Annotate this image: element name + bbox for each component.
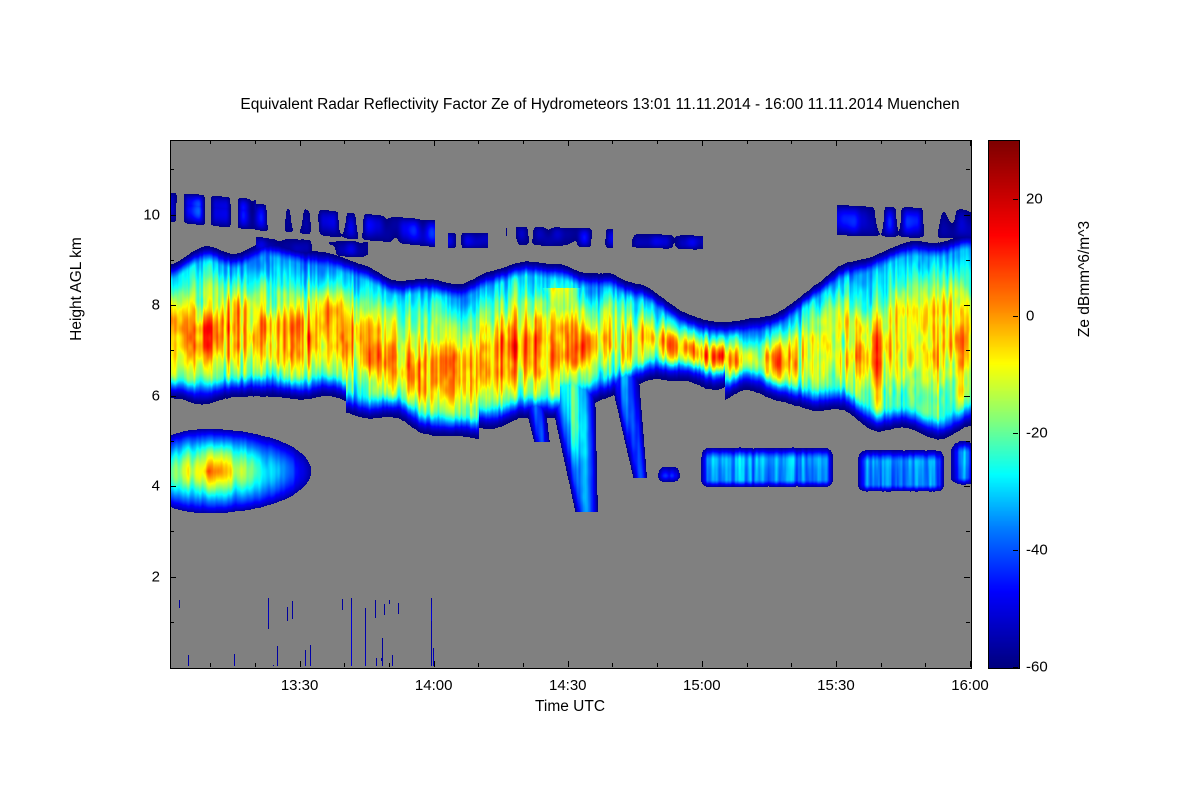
chart-title: Equivalent Radar Reflectivity Factor Ze … [0,96,1200,114]
colorbar-tick [1013,667,1018,668]
y-tick-major [170,305,176,306]
y-tick-major-right [964,486,970,487]
x-tick-minor-top [344,140,345,144]
colorbar-tick-label: -40 [1026,541,1048,558]
x-tick-label: 14:30 [549,677,587,694]
x-tick-minor [255,663,256,667]
x-tick-major-top [568,140,569,146]
x-tick-minor-top [478,140,479,144]
y-tick-minor-right [966,441,970,442]
x-tick-major [970,661,971,667]
y-tick-minor-right [966,531,970,532]
y-tick-label: 10 [122,206,160,223]
x-tick-major-top [702,140,703,146]
x-tick-minor [344,663,345,667]
x-tick-minor-top [925,140,926,144]
x-tick-major [836,661,837,667]
x-tick-label: 15:00 [683,677,721,694]
x-tick-minor [612,663,613,667]
colorbar[interactable] [988,140,1020,669]
colorbar-tick [1013,316,1018,317]
colorbar-tick [1013,199,1018,200]
y-tick-minor [170,350,174,351]
y-axis-title: Height AGL km [68,164,86,414]
colorbar-tick [1013,550,1018,551]
y-tick-minor [170,531,174,532]
y-tick-major [170,215,176,216]
x-axis-title: Time UTC [170,698,970,716]
colorbar-tick-label: -60 [1026,659,1048,676]
y-tick-major-right [964,396,970,397]
y-tick-label: 2 [122,568,160,585]
x-tick-minor [389,663,390,667]
y-tick-major-right [964,215,970,216]
x-tick-minor-top [747,140,748,144]
y-tick-major [170,577,176,578]
colorbar-tick-label: 20 [1026,190,1043,207]
y-tick-label: 4 [122,478,160,495]
x-tick-minor [657,663,658,667]
colorbar-tick-label: 0 [1026,307,1034,324]
colorbar-gradient [989,141,1019,668]
reflectivity-heatmap [171,141,971,668]
y-tick-minor-right [966,169,970,170]
x-tick-minor-top [210,140,211,144]
x-tick-major [300,661,301,667]
y-tick-minor [170,260,174,261]
colorbar-title: Ze dBmm^6/m^3 [1076,154,1094,404]
x-tick-label: 15:30 [817,677,855,694]
y-tick-minor-right [966,622,970,623]
figure-canvas: Equivalent Radar Reflectivity Factor Ze … [0,0,1200,800]
x-tick-minor-top [657,140,658,144]
x-tick-label: 14:00 [415,677,453,694]
x-tick-major-top [434,140,435,146]
x-tick-major [568,661,569,667]
x-tick-minor-top [255,140,256,144]
x-tick-major [434,661,435,667]
y-tick-major [170,486,176,487]
y-tick-minor-right [966,260,970,261]
y-tick-minor [170,622,174,623]
x-tick-major [702,661,703,667]
colorbar-tick-label: -20 [1026,424,1048,441]
x-tick-minor [881,663,882,667]
y-tick-major-right [964,577,970,578]
x-tick-minor-top [523,140,524,144]
x-tick-minor [747,663,748,667]
x-tick-minor-top [881,140,882,144]
x-tick-major-top [970,140,971,146]
y-tick-label: 6 [122,387,160,404]
x-tick-minor [210,663,211,667]
x-tick-minor-top [612,140,613,144]
colorbar-tick [1013,433,1018,434]
y-tick-label: 8 [122,297,160,314]
x-tick-minor [478,663,479,667]
y-tick-minor [170,441,174,442]
x-tick-minor-top [791,140,792,144]
y-tick-minor-right [966,350,970,351]
x-tick-minor [523,663,524,667]
x-tick-minor-top [389,140,390,144]
y-tick-major-right [964,305,970,306]
y-tick-minor [170,169,174,170]
x-tick-label: 16:00 [951,677,989,694]
x-tick-major-top [836,140,837,146]
heatmap-plot-area[interactable] [170,140,972,669]
x-tick-minor [791,663,792,667]
y-tick-major [170,396,176,397]
x-tick-major-top [300,140,301,146]
x-tick-minor [925,663,926,667]
x-tick-label: 13:30 [281,677,319,694]
